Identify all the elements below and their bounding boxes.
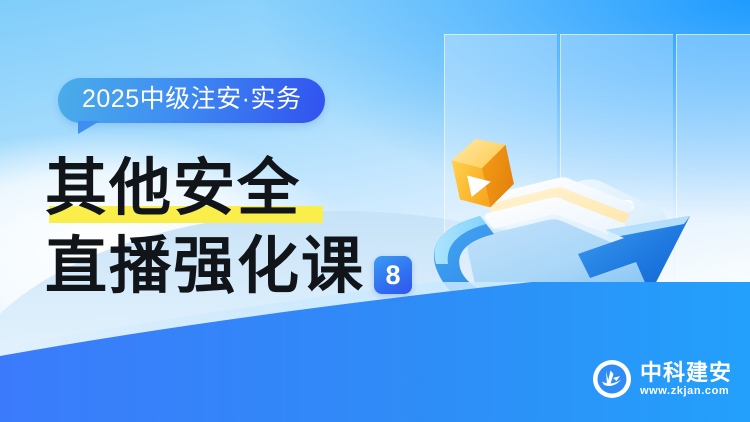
course-category-pill: 2025中级注安·实务	[58, 78, 325, 123]
headline-line-1: 其他安全	[45, 150, 465, 228]
zkjan-logo-icon	[593, 360, 631, 398]
brand-logo: 中科建安 www.zkjan.com	[593, 360, 732, 398]
brand-url: www.zkjan.com	[640, 386, 732, 397]
course-category-label: 2025中级注安·实务	[82, 85, 301, 113]
headline-line-2: 直播强化课 8	[45, 228, 465, 306]
episode-number-badge: 8	[374, 256, 412, 294]
pill-tail	[78, 121, 100, 134]
brand-name: 中科建安	[640, 362, 732, 384]
course-promo-banner: 2025中级注安·实务 其他安全 直播强化课 8 中科建安 www.zkjan.…	[0, 0, 750, 422]
headline-line-2-text: 直播强化课	[45, 228, 365, 306]
headline-line-1-text: 其他安全	[45, 155, 301, 223]
headline-block: 其他安全 直播强化课 8	[45, 150, 465, 306]
brand-logo-text: 中科建安 www.zkjan.com	[640, 362, 732, 397]
